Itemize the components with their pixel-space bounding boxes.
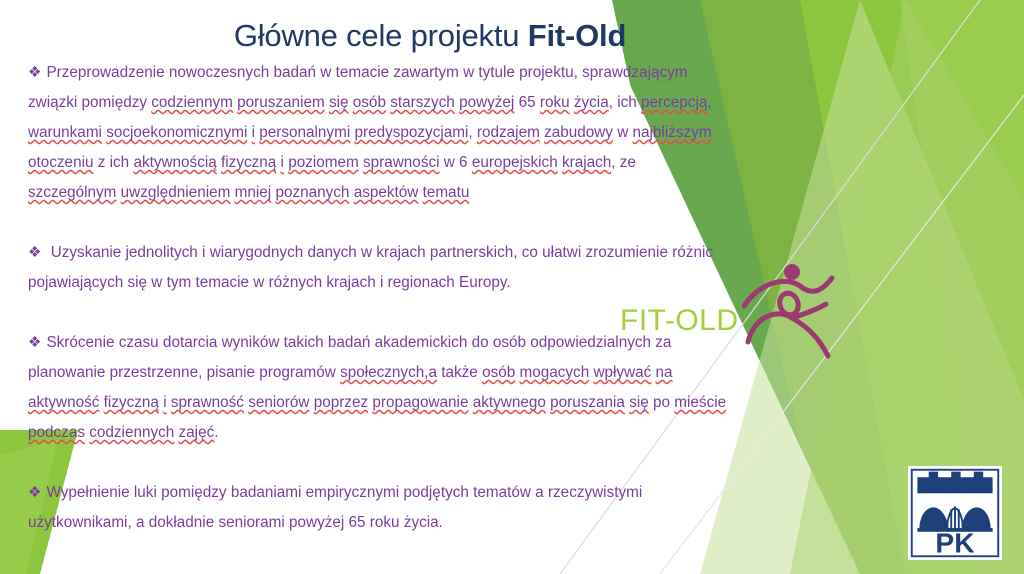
text-run: Wypełnienie luki pomiędzy badaniami empi…: [46, 484, 642, 501]
text-run-misspelled: aktywnego: [473, 394, 546, 411]
text-run: z ich: [93, 154, 133, 171]
text-run: Skrócenie czasu dotarcia wyników takich …: [46, 334, 671, 351]
text-run: Przeprowadzenie nowoczesnych badań w tem…: [46, 64, 687, 81]
text-run-misspelled: szczególnym: [28, 184, 116, 201]
text-run-misspelled: zajęć: [179, 424, 215, 441]
text-run: ,: [468, 124, 477, 141]
text-run-misspelled: propagowanie: [372, 394, 468, 411]
text-run-misspelled: aspektów: [354, 184, 419, 201]
text-line: ❖Przeprowadzenie nowoczesnych badań w te…: [28, 58, 828, 88]
text-line: związki pomiędzy codziennym poruszaniem …: [28, 88, 828, 118]
text-run: planowanie przestrzenne, pisanie program…: [28, 364, 340, 381]
text-run-misspelled: personalnymi: [259, 124, 350, 141]
text-run-misspelled: zabudowy: [544, 124, 613, 141]
text-line: podczas codziennych zajęć.: [28, 418, 828, 448]
text-run-misspelled: poznanych: [275, 184, 349, 201]
text-run-misspelled: aktywność: [28, 394, 99, 411]
text-run-misspelled: seniorów: [248, 394, 309, 411]
text-run-misspelled: podczas: [28, 424, 85, 441]
text-run-misspelled: się: [629, 394, 649, 411]
text-run: Uzyskanie jednolitych i wiarygodnych dan…: [46, 244, 713, 261]
bullet-paragraph-4: ❖Wypełnienie luki pomiędzy badaniami emp…: [28, 478, 828, 538]
text-run-misspelled: fizyczną: [104, 394, 159, 411]
running-figure-icon: [742, 264, 837, 364]
text-run: , ze: [611, 154, 636, 171]
bullet-marker-icon: ❖: [28, 334, 41, 351]
text-run-misspelled: otoczeniu: [28, 154, 93, 171]
slide-canvas: Główne cele projektu Fit-Old ❖Przeprowad…: [0, 0, 1024, 574]
text-run-misspelled: europejskich: [472, 154, 558, 171]
text-run: ,: [707, 94, 711, 111]
text-run-misspelled: codziennych: [89, 424, 174, 441]
text-run-misspelled: poruszaniem: [237, 94, 325, 111]
text-run: pojawiających się w tym temacie w różnyc…: [28, 274, 511, 291]
text-run-misspelled: społecznych,a: [340, 364, 437, 381]
text-run-misspelled: percepcją: [641, 94, 707, 111]
text-run: , ich: [609, 94, 641, 111]
text-run: 65: [514, 94, 540, 111]
text-run: w: [613, 124, 633, 141]
text-run-misspelled: rodzajem: [477, 124, 540, 141]
text-line: szczególnym uwzględnieniem mniej poznany…: [28, 178, 828, 208]
title-strong: Fit-Old: [528, 18, 626, 53]
text-run-misspelled: sprawności: [363, 154, 440, 171]
text-run: po: [649, 394, 675, 411]
text-line: warunkami socjoekonomicznymi i personaln…: [28, 118, 828, 148]
text-line: aktywność fizyczną i sprawność seniorów …: [28, 388, 828, 418]
text-run-misspelled: mogacych: [519, 364, 589, 381]
text-run-misspelled: mniej: [235, 184, 272, 201]
text-run-misspelled: codziennym: [151, 94, 233, 111]
text-line: ❖Wypełnienie luki pomiędzy badaniami emp…: [28, 478, 828, 508]
text-run-misspelled: najbliższym: [633, 124, 712, 141]
pk-logo-emblem: PK: [908, 466, 1002, 560]
bullet-marker-icon: ❖: [28, 484, 41, 501]
text-run-misspelled: poruszania: [550, 394, 625, 411]
pk-logo: PK: [908, 466, 1002, 560]
fit-old-logo: FIT-OLD: [620, 276, 835, 376]
text-run-misspelled: powyżej: [459, 94, 514, 111]
text-run-misspelled: fizyczną: [221, 154, 276, 171]
text-run-misspelled: uwzględnieniem: [121, 184, 231, 201]
text-run-misspelled: socjoekonomicznymi: [106, 124, 247, 141]
title-prefix: Główne cele projektu: [234, 18, 528, 53]
text-run: związki pomiędzy: [28, 94, 151, 111]
text-run: także: [437, 364, 482, 381]
fit-old-logo-text: FIT-OLD: [620, 304, 739, 338]
bullet-marker-icon: ❖: [28, 64, 41, 81]
text-run: użytkownikami, a dokładnie seniorami pow…: [28, 514, 443, 531]
text-run: w 6: [440, 154, 472, 171]
text-line: ❖ Uzyskanie jednolitych i wiarygodnych d…: [28, 238, 828, 268]
text-run-misspelled: osób: [482, 364, 515, 381]
text-run-misspelled: poprzez: [314, 394, 368, 411]
text-run-misspelled: tematu: [423, 184, 470, 201]
text-run-misspelled: aktywnością: [133, 154, 216, 171]
text-run-misspelled: warunkami: [28, 124, 102, 141]
text-run-misspelled: się: [329, 94, 349, 111]
text-line: otoczeniu z ich aktywnością fizyczną i p…: [28, 148, 828, 178]
text-run-misspelled: sprawność: [171, 394, 244, 411]
text-run-misspelled: predyspozycjami: [354, 124, 468, 141]
text-run-misspelled: starszych: [390, 94, 455, 111]
text-run-misspelled: osób: [353, 94, 386, 111]
text-line: użytkownikami, a dokładnie seniorami pow…: [28, 508, 828, 538]
bullet-marker-icon: ❖: [28, 244, 41, 261]
text-run-misspelled: krajach: [562, 154, 611, 171]
text-run-misspelled: roku: [540, 94, 570, 111]
bullet-paragraph-1: ❖Przeprowadzenie nowoczesnych badań w te…: [28, 58, 828, 208]
text-run-misspelled: życia: [574, 94, 609, 111]
text-run: .: [214, 424, 218, 441]
text-run-misspelled: mieście: [674, 394, 726, 411]
svg-text:PK: PK: [935, 526, 975, 558]
slide-title: Główne cele projektu Fit-Old: [0, 18, 860, 54]
text-run-misspelled: poziomem: [288, 154, 359, 171]
